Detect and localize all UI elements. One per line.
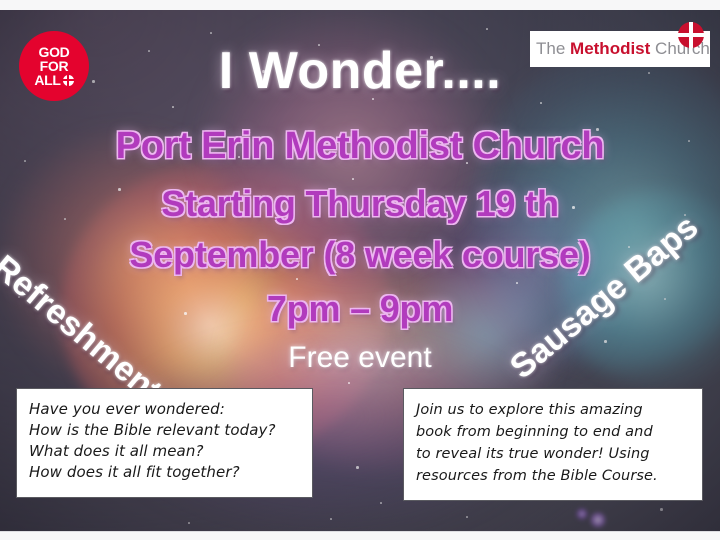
gfa-line-1: GOD (39, 45, 70, 59)
bottom-letterbox-strip (0, 531, 720, 540)
gfa-line-3-row: ALL (34, 73, 73, 87)
poster-line-church: Port Erin Methodist Church (0, 124, 720, 168)
top-letterbox-strip (0, 0, 720, 10)
caption-right-line-3: to reveal its true wonder! Using (416, 443, 692, 465)
caption-box-left: Have you ever wondered: How is the Bible… (16, 388, 313, 498)
methodist-cross-icon (678, 22, 704, 48)
caption-right-line-1: Join us to explore this amazing (416, 399, 692, 421)
poster-slide: GOD FOR ALL The Methodist Church I Wonde… (0, 0, 720, 540)
poster-line-startdate: Starting Thursday 19 th (0, 183, 720, 225)
caption-left-line-4: How does it all fit together? (29, 462, 302, 483)
methodist-the: The (536, 39, 565, 58)
caption-right-line-2: book from beginning to end and (416, 421, 692, 443)
gfa-line-3: ALL (34, 73, 60, 87)
caption-left-line-1: Have you ever wondered: (29, 399, 302, 420)
caption-box-right: Join us to explore this amazing book fro… (403, 388, 703, 501)
cross-in-circle-icon (63, 75, 74, 86)
methodist-church-logo: The Methodist Church (530, 31, 710, 67)
caption-left-line-3: What does it all mean? (29, 441, 302, 462)
god-for-all-logo: GOD FOR ALL (19, 31, 89, 101)
caption-right-line-4: resources from the Bible Course. (416, 465, 692, 487)
caption-left-line-2: How is the Bible relevant today? (29, 420, 302, 441)
methodist-bold: Methodist (570, 39, 650, 58)
gfa-line-2: FOR (40, 59, 69, 73)
